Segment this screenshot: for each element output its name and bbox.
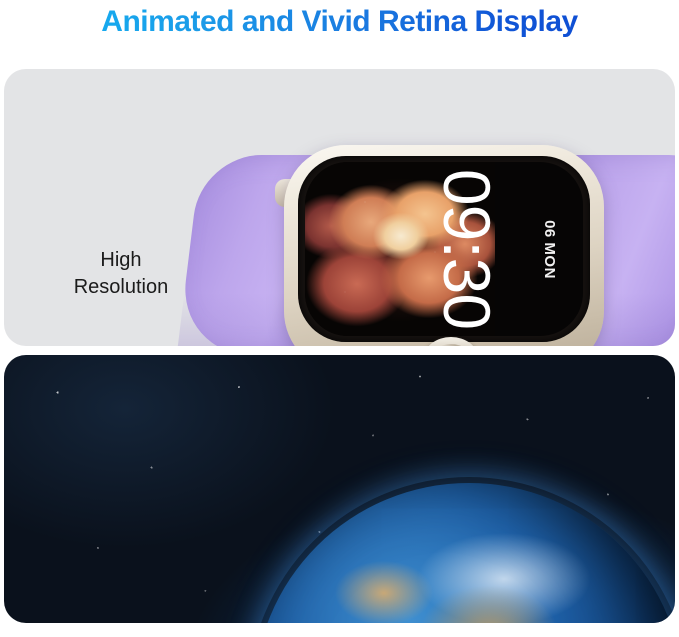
watch-date-display: 06 MON — [520, 204, 579, 294]
high-resolution-caption-line1: High — [46, 247, 196, 274]
high-resolution-caption: High Resolution — [46, 247, 196, 301]
title-bar: Animated and Vivid Retina Display — [0, 0, 679, 44]
watch-case: 09:30 06 MON — [284, 145, 604, 346]
smartwatch-image: 09:30 06 MON — [179, 69, 675, 346]
page-title: Animated and Vivid Retina Display — [101, 5, 577, 39]
panel-dynamic-watch-face: 09:30 56 SEP 20 TUE 100% 20600 — [4, 355, 675, 623]
watch-bezel: 09:30 06 MON — [298, 156, 590, 342]
watch-time-value: 09:30 — [434, 169, 500, 329]
panel-high-resolution: High Resolution 09:30 06 MON — [4, 69, 675, 346]
watch-date-value: 06 MON — [541, 220, 558, 279]
watch-screen: 09:30 06 MON — [305, 162, 583, 336]
high-resolution-caption-line2: Resolution — [46, 274, 196, 301]
